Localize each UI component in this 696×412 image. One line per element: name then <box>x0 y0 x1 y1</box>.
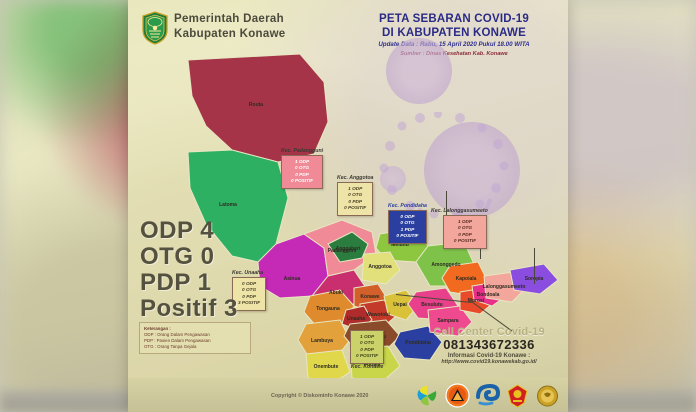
callout-row-positif: 0 POSITIF <box>287 178 317 184</box>
map-label-amonggedo: Amonggedo <box>431 262 460 268</box>
kominfo-wave-logo-icon <box>475 383 500 408</box>
stat-positif: Positif 3 <box>140 296 238 322</box>
title-line-1: PETA SEBARAN COVID-19 <box>356 12 552 26</box>
callout-box-pondidaha[interactable]: 0 ODP 0 OTG 1 PDP 0 POSITIF <box>388 210 427 244</box>
footer-logos <box>415 383 560 408</box>
gold-emblem-logo-icon <box>535 383 560 408</box>
callout-row-positif: 0 POSITIF <box>394 233 421 239</box>
map-label-latoma: Latoma <box>219 202 237 208</box>
map-label-tongauna: Tongauna <box>316 306 340 312</box>
callout-label-konawe: Kec. Konawe <box>350 364 384 371</box>
map-label-sampara: Sampara <box>437 318 458 324</box>
stat-otg: OTG 0 <box>140 244 238 270</box>
callout-box-lalonggasumeeto[interactable]: 1 ODP 0 OTG 0 PDP 0 POSITIF <box>443 215 487 249</box>
summary-statistics: ODP 4 OTG 0 PDP 1 Positif 3 <box>140 218 238 322</box>
map-label-lambuya: Lambuya <box>311 338 333 344</box>
callout-konawe[interactable]: 1 ODP 0 OTG 0 PDP 0 POSITIF Kec. Konawe <box>350 330 384 371</box>
map-label-uepai: Uepai <box>393 302 407 308</box>
callout-label-lalonggasumeeto: Kec. Lalonggasumeeto <box>431 208 488 215</box>
bnpb-logo-icon <box>445 383 470 408</box>
map-label-lalonggasumeeto: Lalonggasumeeto <box>483 284 526 290</box>
legend-item-otg: OTG : Orang Tanpa Gejala <box>144 344 246 350</box>
info-url[interactable]: http://www.covid19.konawekab.go.id/ <box>414 359 564 365</box>
pancasila-shield-logo-icon <box>505 383 530 408</box>
callout-padangguni[interactable]: Kec. Padangguni 1 ODP 0 OTG 0 PDP 0 POSI… <box>281 148 323 189</box>
gov-line-1: Pemerintah Daerah <box>174 12 286 27</box>
callout-row-positif: 0 POSITIF <box>449 238 481 244</box>
callout-box-padangguni[interactable]: 1 ODP 0 OTG 0 PDP 0 POSITIF <box>281 155 323 189</box>
callout-label-pondidaha: Kec. Pondidaha <box>388 203 427 210</box>
call-center-phone[interactable]: 081343672336 <box>414 337 564 352</box>
stat-pdp: PDP 1 <box>140 270 238 296</box>
map-label-konawe: Konawe <box>360 294 379 300</box>
map-label-abuki: Abuki <box>329 290 344 296</box>
konawe-regency-emblem-icon <box>140 11 170 45</box>
callout-row-positif: 3 POSITIF <box>238 300 260 306</box>
callout-anggotoa[interactable]: Kec. Anggotoa 1 ODP 0 OTG 0 PDP 0 POSITI… <box>337 175 373 216</box>
map-label-anggotoa: Anggotoa <box>368 264 392 270</box>
leader-line-pondidaha <box>534 248 535 284</box>
callout-pondidaha[interactable]: Kec. Pondidaha 0 ODP 0 OTG 1 PDP 0 POSIT… <box>388 203 427 244</box>
callout-box-anggotoa[interactable]: 1 ODP 0 OTG 0 PDP 0 POSITIF <box>337 182 373 216</box>
map-label-routa: Routa <box>249 102 263 108</box>
callout-lalonggasumeeto[interactable]: Kec. Lalonggasumeeto 1 ODP 0 OTG 0 PDP 0… <box>431 208 488 249</box>
map-label-besulutu: Besulutu <box>421 302 442 308</box>
government-name: Pemerintah Daerah Kabupaten Konawe <box>174 12 286 41</box>
title-line-2: DI KABUPATEN KONAWE <box>356 26 552 40</box>
callout-box-konawe[interactable]: 1 ODP 0 OTG 0 PDP 0 POSITIF <box>350 330 384 364</box>
map-label-unaaha: Unaaha <box>347 316 365 322</box>
stat-odp: ODP 4 <box>140 218 238 244</box>
screenshot-stage: Pemerintah Daerah Kabupaten Konawe PETA … <box>0 0 696 412</box>
gov-line-2: Kabupaten Konawe <box>174 27 286 42</box>
callout-row-positif: 0 POSITIF <box>356 353 378 359</box>
map-region-routa[interactable] <box>188 54 328 162</box>
callout-label-anggotoa: Kec. Anggotoa <box>337 175 373 182</box>
copyright-text: Copyright © Diskominfo Konawe 2020 <box>271 393 368 399</box>
kominfo-cube-logo-icon <box>415 383 440 408</box>
map-label-bondoala: Bondoala <box>477 292 500 298</box>
call-center-block: Call Center Covid-19 081343672336 Inform… <box>414 326 564 365</box>
legend-keterangan: Keterangan : ODP : Orang Dalam Pengawasa… <box>139 322 251 354</box>
map-label-wawotobi: Wawotobi <box>366 312 390 318</box>
map-label-asinua: Asinua <box>284 276 301 282</box>
map-label-onembute: Onembute <box>314 364 339 370</box>
callout-label-padangguni: Kec. Padangguni <box>281 148 323 155</box>
map-label-kapoiala: Kapoiala <box>456 276 477 282</box>
callout-row-positif: 0 POSITIF <box>343 205 367 211</box>
covid-map-poster: Pemerintah Daerah Kabupaten Konawe PETA … <box>128 0 568 412</box>
map-label-anggaberi: Anggaberi <box>336 246 361 252</box>
